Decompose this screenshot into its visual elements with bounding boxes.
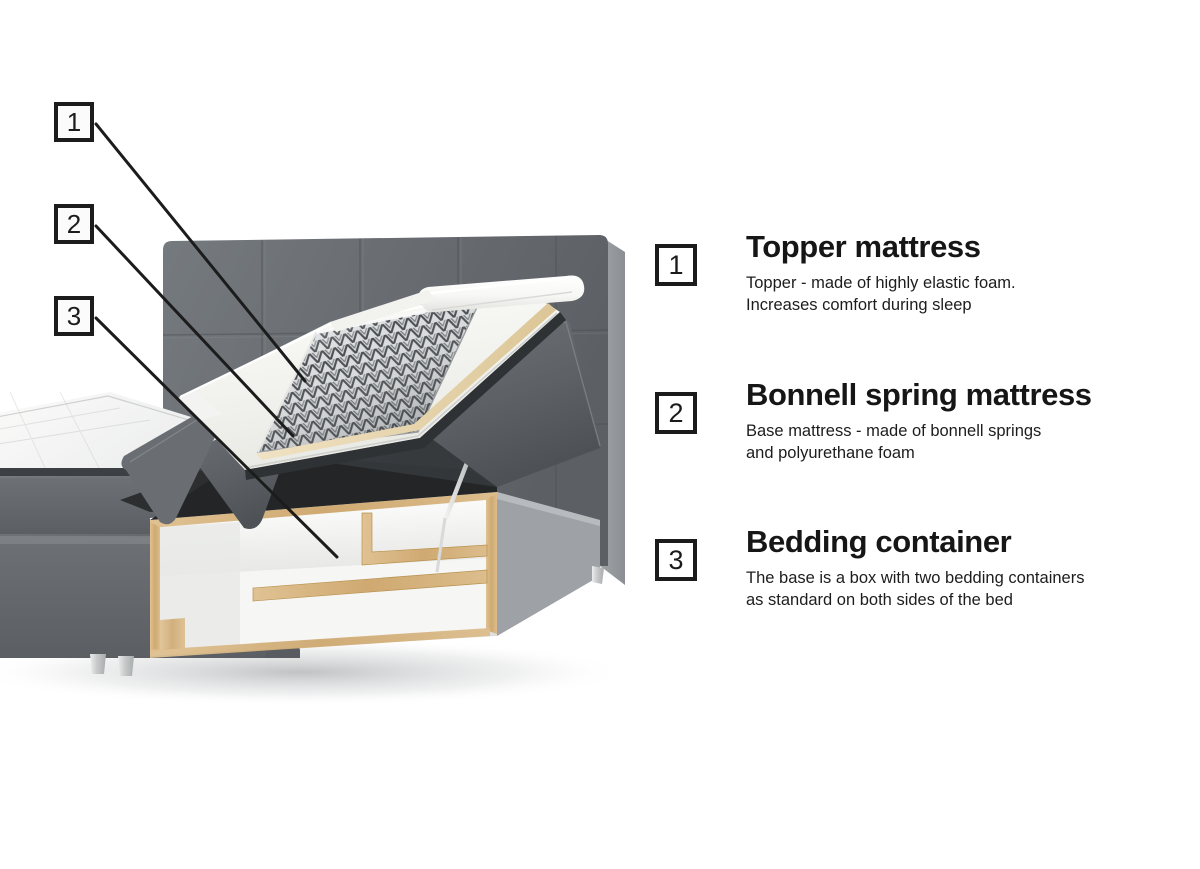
feature-legend: 1 Topper mattress Topper - made of highl… [650, 230, 1195, 645]
legend-desc-2-line-1: Base mattress - made of bonnell springs [746, 420, 1195, 442]
legend-desc-3-line-2: as standard on both sides of the bed [746, 589, 1195, 611]
legend-title-3: Bedding container [746, 525, 1195, 560]
callout-box-2: 2 [54, 204, 94, 244]
legend-title-2: Bonnell spring mattress [746, 378, 1195, 413]
callout-box-3: 3 [54, 296, 94, 336]
legend-desc-1-line-1: Topper - made of highly elastic foam. [746, 272, 1195, 294]
product-diagram-page: 1 2 3 1 Topper mattress Topper - made of… [0, 0, 1200, 869]
legend-desc-2-line-2: and polyurethane foam [746, 442, 1195, 464]
legend-item-topper-mattress: 1 Topper mattress Topper - made of highl… [650, 230, 1195, 350]
bed-cutaway-svg [0, 0, 640, 869]
legend-item-bonnell-spring-mattress: 2 Bonnell spring mattress Base mattress … [650, 378, 1195, 498]
foot-left [90, 654, 106, 674]
legend-desc-1-line-2: Increases comfort during sleep [746, 294, 1195, 316]
foot-right [592, 566, 604, 584]
legend-desc-3-line-1: The base is a box with two bedding conta… [746, 567, 1195, 589]
legend-description-3: The base is a box with two bedding conta… [746, 567, 1195, 612]
boxspring-bed-illustration: 1 2 3 [0, 0, 640, 869]
legend-description-2: Base mattress - made of bonnell springs … [746, 420, 1195, 465]
bedding-container [150, 491, 600, 658]
legend-item-bedding-container: 3 Bedding container The base is a box wi… [650, 525, 1195, 645]
legend-description-1: Topper - made of highly elastic foam. In… [746, 272, 1195, 317]
legend-body-3: Bedding container The base is a box with… [746, 525, 1195, 612]
foot-second [118, 656, 134, 676]
legend-body-2: Bonnell spring mattress Base mattress - … [746, 378, 1195, 465]
legend-title-1: Topper mattress [746, 230, 1195, 265]
legend-number-2: 2 [655, 392, 697, 434]
legend-number-3: 3 [655, 539, 697, 581]
legend-number-1: 1 [655, 244, 697, 286]
legend-body-1: Topper mattress Topper - made of highly … [746, 230, 1195, 317]
callout-box-1: 1 [54, 102, 94, 142]
